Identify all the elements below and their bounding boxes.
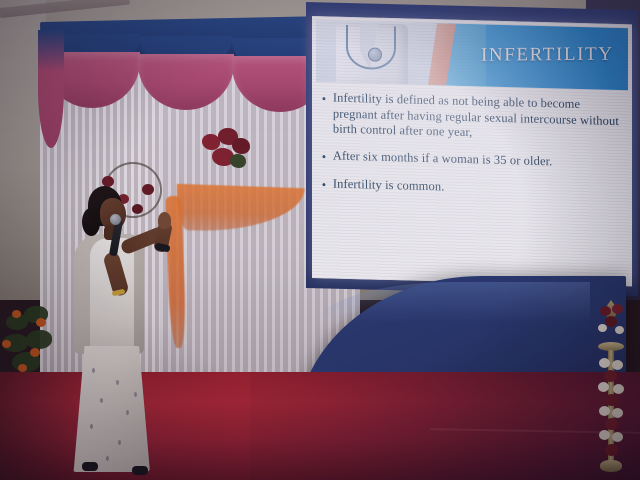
slide-bullet-text: After six months if a woman is 35 or old… (333, 148, 553, 169)
garland-jasmine (615, 326, 624, 334)
slide-bullet-text: Infertility is defined as not being able… (333, 91, 622, 145)
projection-screen: INFERTILITY • Infertility is defined as … (312, 16, 632, 286)
floral-bouquet (198, 128, 252, 174)
garland-rose (600, 306, 611, 316)
garland-jasmine (599, 358, 610, 368)
slide-header-banner: INFERTILITY (316, 20, 628, 90)
microphone-icon (110, 214, 121, 225)
slide-title: INFERTILITY (481, 44, 614, 67)
slide-bullet-list: • Infertility is defined as not being ab… (322, 90, 622, 280)
garland-jasmine (612, 360, 623, 370)
potted-plant (0, 300, 58, 378)
bouquet-petal (232, 138, 250, 154)
garland-rose (604, 370, 617, 382)
garland-jasmine (598, 324, 607, 332)
garland-jasmine (598, 382, 609, 392)
garland-jasmine (599, 406, 610, 416)
stethoscope-bell-icon (368, 47, 382, 61)
bullet-marker-icon: • (322, 176, 326, 193)
saree-motif (92, 368, 95, 373)
saree-motif (106, 456, 109, 461)
photo-scene: INFERTILITY • Infertility is defined as … (0, 0, 640, 480)
plant-leaf (26, 330, 52, 349)
bullet-marker-icon: • (322, 148, 326, 165)
floor-shadow (250, 372, 640, 480)
slide-bullet-item: • Infertility is defined as not being ab… (322, 90, 622, 144)
saree-motif (90, 424, 93, 429)
presenter-pointing-hand (158, 212, 171, 229)
plant-flower (30, 348, 40, 357)
bullet-marker-icon: • (322, 90, 326, 107)
garland-jasmine (612, 432, 623, 442)
garland-rose (605, 394, 618, 406)
doctor-photo (316, 20, 448, 85)
presenter-footwear (82, 462, 98, 471)
garland-jasmine (599, 430, 610, 440)
plant-flower (36, 318, 46, 327)
plant-flower (12, 310, 21, 318)
garland-jasmine (612, 408, 623, 418)
slide-bullet-item: • After six months if a woman is 35 or o… (322, 148, 622, 173)
valance-tail-left (38, 30, 64, 148)
garland-rose (612, 304, 623, 314)
bouquet-leaf (230, 154, 246, 168)
presenter (60, 186, 180, 474)
plant-flower (2, 340, 11, 348)
saree-skirt (72, 346, 150, 472)
garland-jasmine (613, 384, 624, 394)
garland-rose (605, 418, 618, 430)
saree-motif (116, 380, 119, 385)
saree-motif (100, 398, 103, 403)
garland-rose (605, 444, 618, 456)
brass-oil-lamp (596, 300, 626, 476)
presentation-slide: INFERTILITY • Infertility is defined as … (312, 16, 632, 286)
saree-motif (118, 440, 121, 445)
garland-rose (605, 316, 617, 327)
saree-motif (126, 410, 129, 415)
lamp-base (600, 460, 622, 472)
presenter-footwear (132, 466, 148, 475)
plant-flower (18, 364, 27, 372)
slide-bullet-text: Infertility is common. (333, 176, 445, 194)
saree-motif (134, 392, 137, 397)
slide-bullet-item: • Infertility is common. (322, 176, 622, 201)
